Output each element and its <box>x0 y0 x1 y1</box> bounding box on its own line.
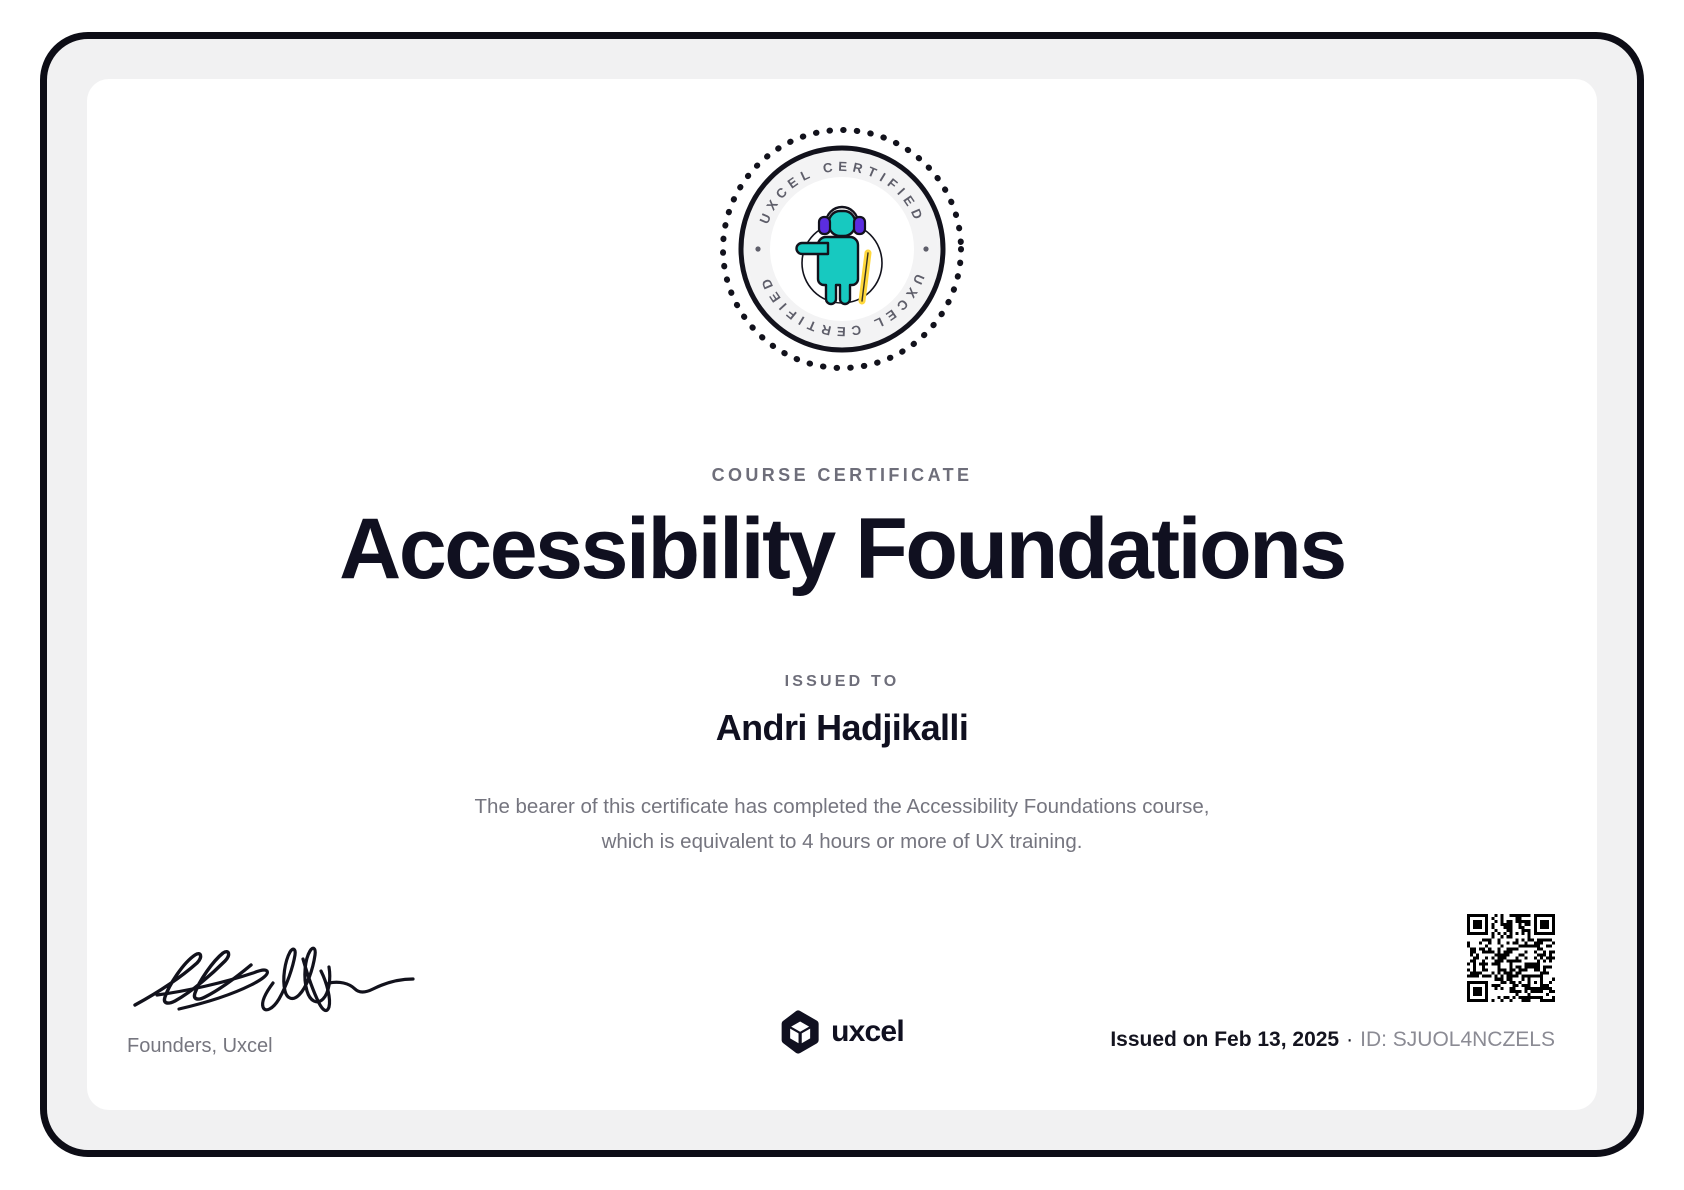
certificate-frame: UXCEL CERTIFIED UXCEL CERTIFIED <box>40 32 1644 1157</box>
certificate-description: The bearer of this certificate has compl… <box>462 789 1222 860</box>
verification-qr-code[interactable] <box>1467 914 1555 1002</box>
certificate-title: Accessibility Foundations <box>87 504 1597 594</box>
uxcel-certified-seal: UXCEL CERTIFIED UXCEL CERTIFIED <box>716 123 968 375</box>
uxcel-brand-logo: uxcel <box>780 1010 904 1054</box>
issued-to-label: ISSUED TO <box>87 673 1597 691</box>
qr-code-icon <box>1467 914 1555 1002</box>
uxcel-wordmark: uxcel <box>831 1015 904 1049</box>
signature-caption: Founders, Uxcel <box>127 1035 457 1058</box>
issued-date: Issued on Feb 13, 2025 <box>1110 1028 1339 1051</box>
certificate-card: UXCEL CERTIFIED UXCEL CERTIFIED <box>87 79 1597 1110</box>
certificate-kicker: COURSE CERTIFICATE <box>87 465 1597 486</box>
seal-icon: UXCEL CERTIFIED UXCEL CERTIFIED <box>716 123 968 375</box>
uxcel-cube-icon <box>780 1010 820 1054</box>
certificate-id: ID: SJUOL4NCZELS <box>1360 1028 1555 1051</box>
meta-separator: · <box>1339 1028 1360 1051</box>
recipient-name: Andri Hadjikalli <box>87 707 1597 749</box>
certificate-meta: Issued on Feb 13, 2025·ID: SJUOL4NCZELS <box>1110 1028 1555 1052</box>
founders-signature-icon <box>127 939 427 1021</box>
signature-block: Founders, Uxcel <box>127 939 457 1058</box>
